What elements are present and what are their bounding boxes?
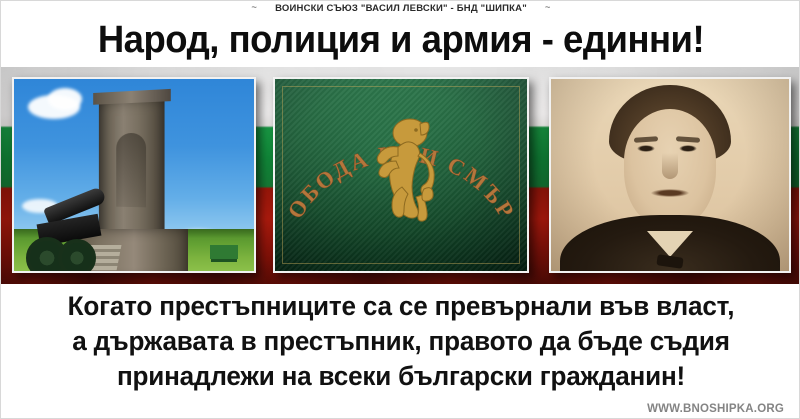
- flag-banner: СВОБОДА ИЛИ СМЪРТЬ: [1, 67, 800, 284]
- monument-arch: [116, 133, 146, 208]
- organisation-line: ~ВОИНСКИ СЪЮЗ "ВАСИЛ ЛЕВСКИ" - БНД "ШИПК…: [1, 3, 800, 14]
- poster-root: ~ВОИНСКИ СЪЮЗ "ВАСИЛ ЛЕВСКИ" - БНД "ШИПК…: [0, 0, 800, 419]
- monument-tower: [99, 97, 165, 250]
- shipka-monument-photo: [12, 77, 256, 273]
- organisation-name: ВОИНСКИ СЪЮЗ "ВАСИЛ ЛЕВСКИ" - БНД "ШИПКА…: [275, 3, 527, 14]
- portrait-eye: [637, 145, 655, 152]
- slogan-block: Когато престъпниците са се превърнали въ…: [1, 289, 800, 394]
- slogan-line-1: Когато престъпниците са се превърнали въ…: [7, 289, 795, 324]
- slogan-line-3: принадлежи на всеки български гражданин!: [7, 359, 795, 394]
- rampant-lion-emblem: [358, 111, 444, 223]
- vasil-levski-portrait-photo: [549, 77, 791, 273]
- portrait-nose: [662, 153, 678, 179]
- slogan-line-2: а държавата в престъпник, правото да бъд…: [7, 324, 795, 359]
- cannon-wheel: [58, 239, 96, 273]
- ornament-left-icon: ~: [233, 2, 275, 13]
- lion-icon: [358, 111, 444, 223]
- cloud-icon: [48, 88, 82, 110]
- park-bench: [210, 245, 238, 259]
- portrait-eye: [679, 145, 697, 152]
- portrait-mouth: [651, 189, 689, 197]
- revolutionary-flag-photo: СВОБОДА ИЛИ СМЪРТЬ: [273, 77, 529, 273]
- page-title: Народ, полиция и армия - единни!: [17, 18, 785, 62]
- ornament-right-icon: ~: [527, 2, 569, 13]
- site-url[interactable]: WWW.BNOSHIPKA.ORG: [647, 403, 784, 415]
